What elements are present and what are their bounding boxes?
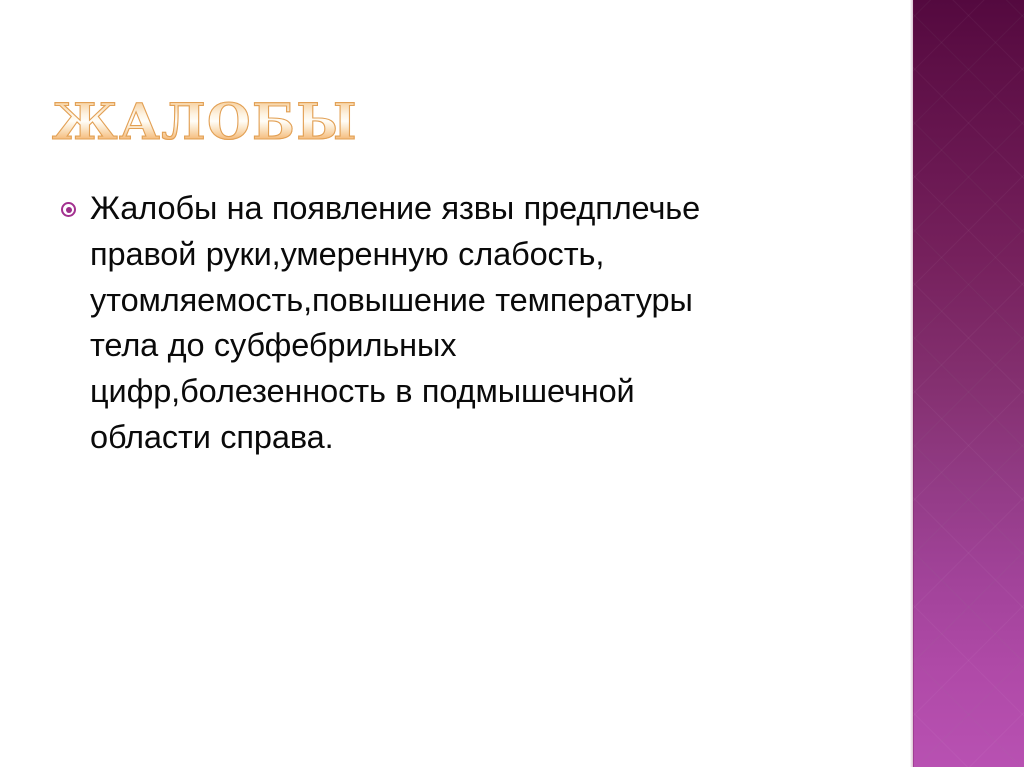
bullet-line: утомляемость,повышение температуры [90, 278, 846, 324]
band-diamond-texture [913, 0, 1024, 767]
bullet-item-text: Жалобы на появление язвы предплечье прав… [90, 186, 846, 461]
bullet-line: правой руки,умеренную слабость, [90, 232, 846, 278]
slide-canvas: ЖАЛОБЫ Жалобы на появление язвы предплеч… [0, 0, 1024, 767]
circled-dot-bullet-icon [61, 202, 76, 217]
band-left-edge-shadow [910, 0, 914, 767]
right-purple-gradient-band [913, 0, 1024, 767]
slide-title: ЖАЛОБЫ [52, 92, 872, 154]
bullet-line: Жалобы на появление язвы предплечье [90, 186, 846, 232]
bullet-list-item: Жалобы на появление язвы предплечье прав… [56, 186, 846, 461]
slide-body: Жалобы на появление язвы предплечье прав… [56, 186, 846, 461]
bullet-line: тела до субфебрильных [90, 323, 846, 369]
bullet-line: области справа. [90, 415, 846, 461]
bullet-line: цифр,болезенность в подмышечной [90, 369, 846, 415]
